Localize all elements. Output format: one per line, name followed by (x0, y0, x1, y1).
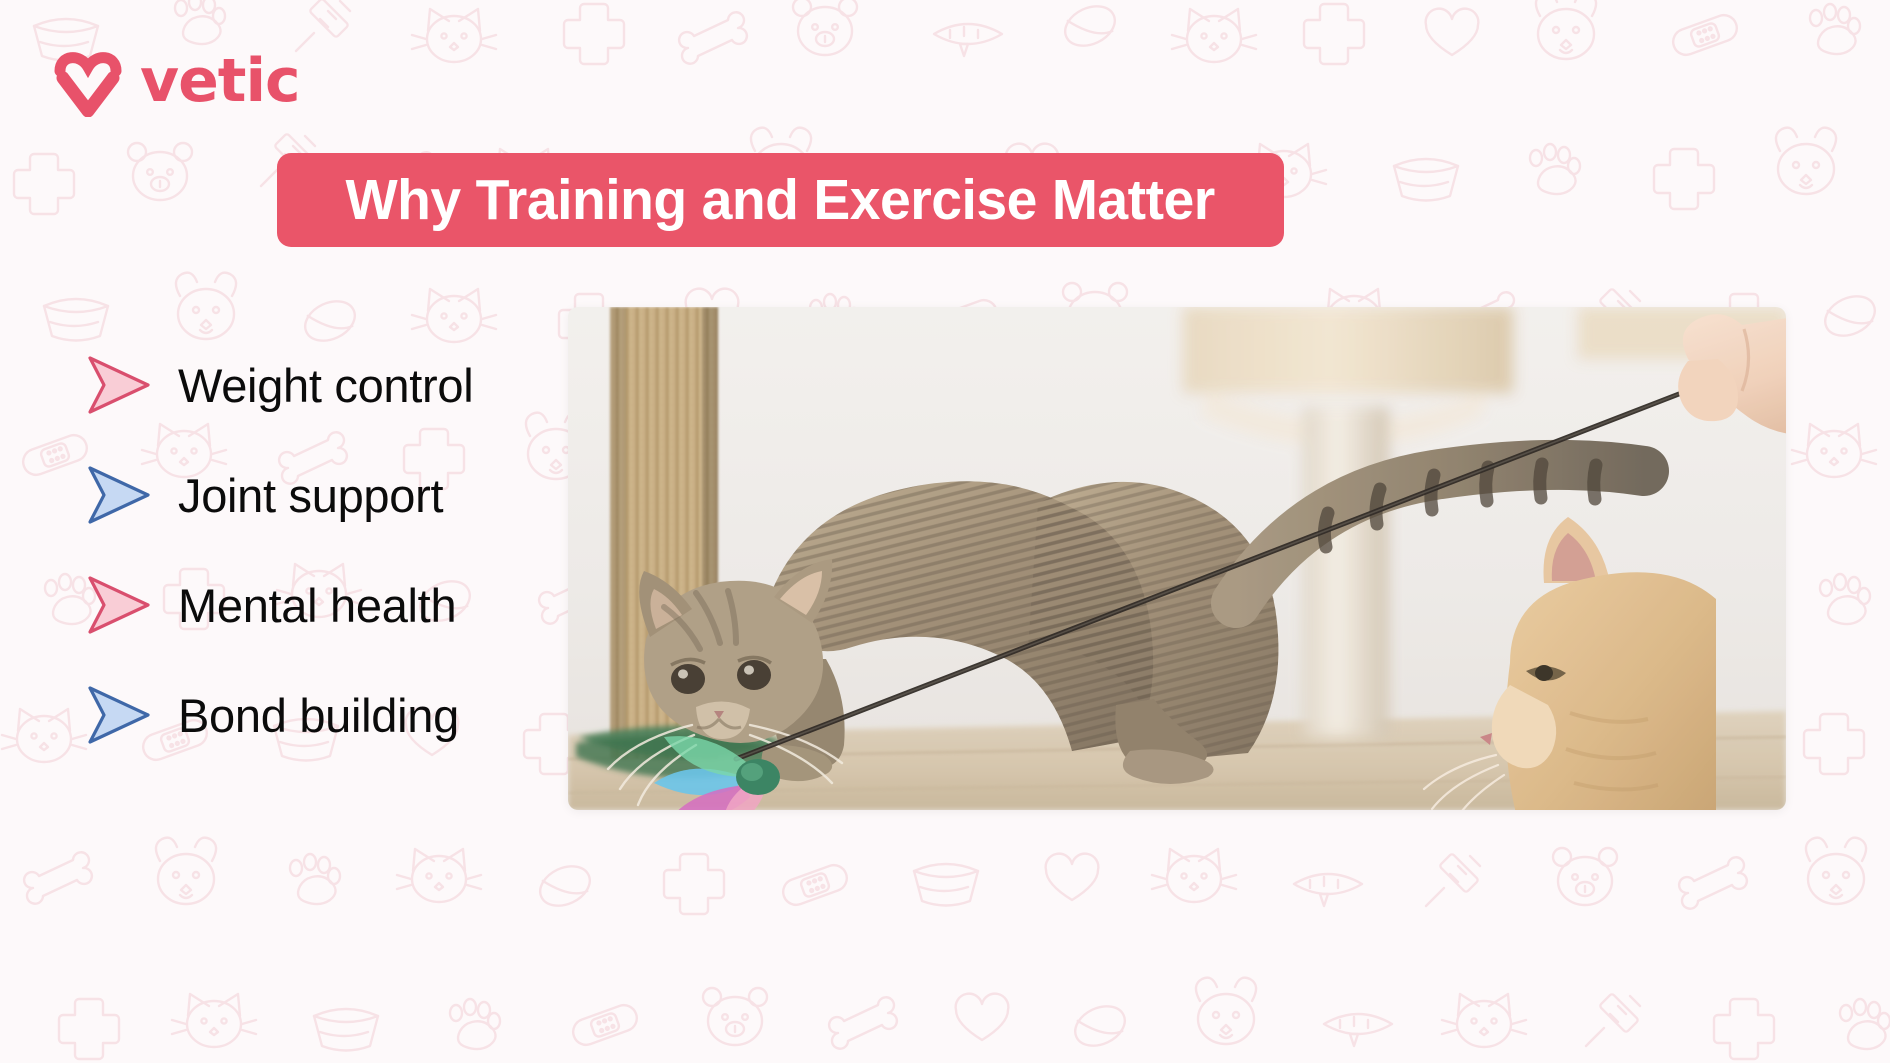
cat-play-photo (568, 307, 1786, 810)
arrow-marker-blue-icon (82, 458, 156, 532)
benefits-list: Weight control Joint support Mental heal… (82, 330, 552, 770)
list-item-label: Weight control (178, 358, 473, 413)
arrow-marker-blue-icon (82, 678, 156, 752)
page-title-banner: Why Training and Exercise Matter (277, 153, 1284, 247)
arrow-marker-pink-icon (82, 568, 156, 642)
list-item[interactable]: Mental health (82, 550, 552, 660)
list-item[interactable]: Joint support (82, 440, 552, 550)
arrow-marker-pink-icon (82, 348, 156, 422)
slide-canvas: vetic Why Training and Exercise Matter W… (0, 0, 1890, 1063)
brand-logo[interactable]: vetic (50, 45, 300, 117)
list-item-label: Bond building (178, 688, 459, 743)
list-item-label: Mental health (178, 578, 456, 633)
heart-v-logo-icon (50, 45, 126, 117)
list-item[interactable]: Bond building (82, 660, 552, 770)
brand-wordmark: vetic (140, 51, 300, 111)
list-item-label: Joint support (178, 468, 443, 523)
list-item[interactable]: Weight control (82, 330, 552, 440)
page-title: Why Training and Exercise Matter (346, 167, 1215, 233)
